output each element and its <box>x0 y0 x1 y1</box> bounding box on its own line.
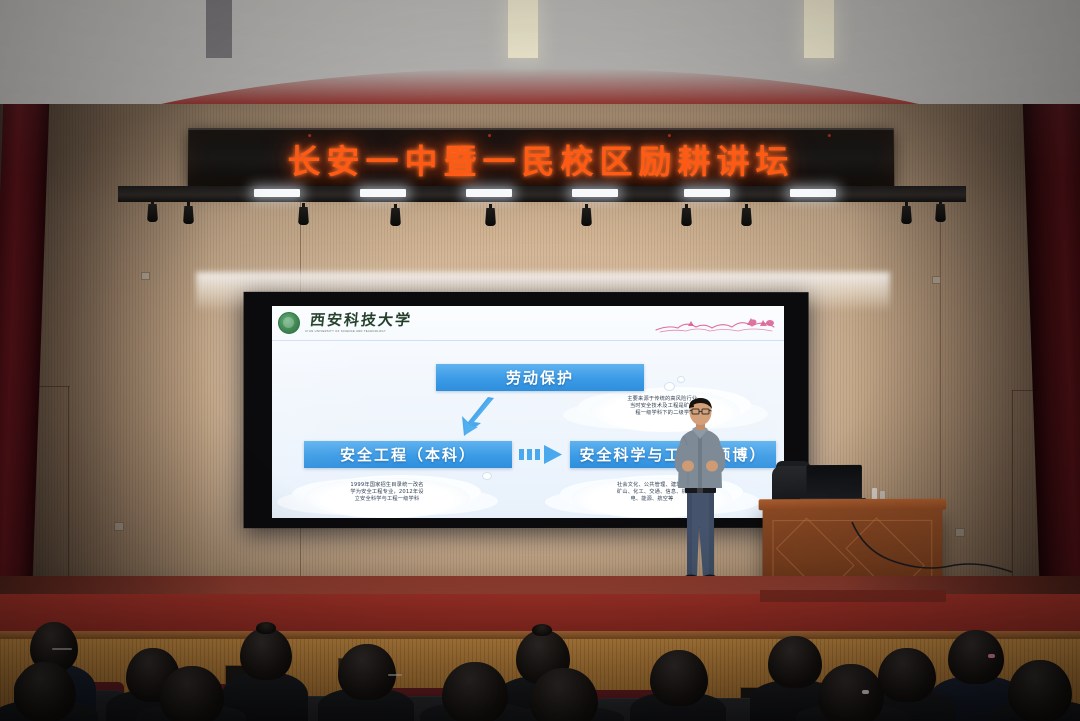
callout-line: 学为安全工程专业，2012年设 <box>304 489 470 496</box>
lighting-truss <box>118 186 966 202</box>
arrow-right-segmented-icon <box>518 444 564 465</box>
stage-spotlight <box>484 204 497 230</box>
audience-hair-bun <box>532 624 552 636</box>
university-emblem-icon <box>278 312 300 334</box>
university-logo: 西安科技大学 XI'AN UNIVERSITY OF SCIENCE AND T… <box>278 312 412 334</box>
speaker-presenter <box>664 396 738 582</box>
stage-spotlight <box>740 204 753 230</box>
audience-head <box>14 662 76 721</box>
ceiling-strip-dark <box>206 0 232 58</box>
audience-head <box>1008 660 1072 721</box>
truss-led-light <box>790 189 836 197</box>
audience-head <box>160 666 224 721</box>
audience-head <box>650 650 708 706</box>
audience-head <box>818 664 884 721</box>
truss-led-light <box>254 189 300 197</box>
audience-head <box>948 630 1004 684</box>
callout-line: 1999年国家招生目录统一改名 <box>304 482 470 489</box>
audience-head <box>442 662 508 721</box>
laptop-screen <box>806 465 861 501</box>
stage-spotlight <box>182 202 195 228</box>
mountain-decoration-icon <box>652 314 778 336</box>
audience-head <box>878 648 936 702</box>
slide-box-labor-protection: 劳动保护 <box>436 364 644 391</box>
callout-line: 立安全科学与工程一级学科 <box>304 496 470 503</box>
audience-head <box>240 628 292 680</box>
auditorium-lecture-photo: 长安一中暨一民校区励耕讲坛 西安科技大学 XI'AN UNIVERSITY OF… <box>0 0 1080 721</box>
audience-hair-bun <box>256 622 276 634</box>
audience-hair-clip <box>862 690 869 694</box>
led-banner-text: 长安一中暨一民校区励耕讲坛 <box>287 135 794 183</box>
callout-bubble <box>677 376 685 383</box>
audience-glasses <box>388 674 402 676</box>
slide-box-top-label: 劳动保护 <box>506 367 574 388</box>
stage-spotlight <box>900 202 913 228</box>
audience-hair-clip <box>988 654 995 658</box>
stage-spotlight <box>934 200 947 226</box>
truss-led-light <box>572 189 618 197</box>
audience-head <box>338 644 396 700</box>
podium-top-surface <box>759 499 947 511</box>
truss-led-light <box>466 189 512 197</box>
university-name-cn: 西安科技大学 <box>309 313 413 328</box>
stage-spotlight <box>580 204 593 230</box>
truss-led-light <box>684 189 730 197</box>
stage-spotlight <box>680 204 693 230</box>
callout-bubble <box>664 382 675 391</box>
university-name-en: XI'AN UNIVERSITY OF SCIENCE AND TECHNOLO… <box>305 330 412 333</box>
audience-head <box>768 636 822 688</box>
callout-bubble <box>482 472 492 480</box>
stage-spotlight <box>146 200 159 226</box>
ceiling-strip-warm-1 <box>508 0 538 58</box>
led-banner: 长安一中暨一民校区励耕讲坛 <box>188 128 895 188</box>
callout-cloud-bottom-left-text: 1999年国家招生目录统一改名 学为安全工程专业，2012年设 立安全科学与工程… <box>304 482 470 503</box>
podium-shadow-block <box>760 590 946 602</box>
audience-glasses <box>52 648 72 650</box>
slide-header: 西安科技大学 XI'AN UNIVERSITY OF SCIENCE AND T… <box>272 306 784 341</box>
stage-spotlight <box>297 203 310 229</box>
slide-box-left-label: 安全工程（本科） <box>340 444 476 465</box>
ceiling-strip-warm-2 <box>804 0 834 58</box>
arrow-down-left-icon <box>454 394 500 440</box>
slide-box-safety-engineering: 安全工程（本科） <box>304 441 512 468</box>
truss-led-light <box>360 189 406 197</box>
stage-spotlight <box>389 204 402 230</box>
